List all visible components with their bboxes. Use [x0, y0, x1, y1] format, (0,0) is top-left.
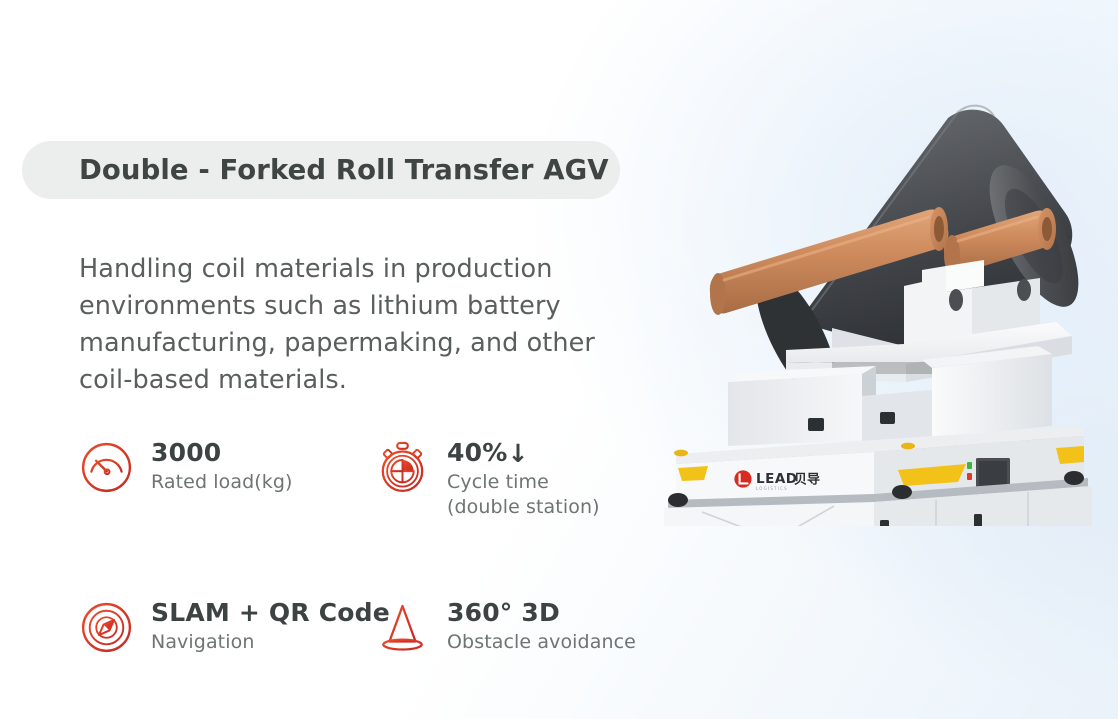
- spec-row: 3000 Rated load(kg): [79, 437, 649, 520]
- traffic-cone-icon: [375, 600, 430, 655]
- spec-value: SLAM + QR Code: [151, 598, 390, 627]
- spec-item-obstacle-avoidance: 360° 3D Obstacle avoidance: [375, 597, 649, 655]
- spec-text: 3000 Rated load(kg): [151, 437, 293, 495]
- spec-item-navigation: SLAM + QR Code Navigation: [79, 597, 375, 655]
- spec-grid: 3000 Rated load(kg): [79, 437, 649, 655]
- left-content-column: Double - Forked Roll Transfer AGV Handli…: [0, 0, 660, 719]
- spec-label-line-1: Cycle time: [447, 470, 600, 495]
- hazard-marker-right: [1056, 446, 1084, 464]
- spec-text: 40%↓ Cycle time (double station): [447, 437, 600, 520]
- compass-icon: [79, 600, 134, 655]
- spec-value: 40%↓: [447, 438, 600, 467]
- spec-row: SLAM + QR Code Navigation: [79, 597, 649, 655]
- spec-label-line-2: (double station): [447, 495, 600, 520]
- spec-label: Obstacle avoidance: [447, 630, 636, 655]
- title-pill: Double - Forked Roll Transfer AGV: [22, 141, 620, 199]
- spec-item-rated-load: 3000 Rated load(kg): [79, 437, 375, 520]
- agv-chassis: LEAD 贝导 LOGISTICS: [656, 426, 1100, 526]
- spec-text: SLAM + QR Code Navigation: [151, 597, 390, 655]
- agv-product-image: LEAD 贝导 LOGISTICS: [636, 96, 1106, 526]
- svg-text:LOGISTICS: LOGISTICS: [756, 486, 788, 491]
- spec-text: 360° 3D Obstacle avoidance: [447, 597, 636, 655]
- beacon-left: [674, 450, 688, 457]
- hazard-marker-left: [678, 466, 708, 481]
- svg-text:贝导: 贝导: [794, 473, 820, 488]
- wheel-housing-left: [668, 493, 688, 507]
- spec-value: 360° 3D: [447, 598, 636, 627]
- arrow-down-icon: ↓: [507, 439, 528, 468]
- spec-item-cycle-time: 40%↓ Cycle time (double station): [375, 437, 649, 520]
- slide-stage: Double - Forked Roll Transfer AGV Handli…: [0, 0, 1118, 719]
- product-description: Handling coil materials in production en…: [79, 251, 641, 399]
- spec-label: Navigation: [151, 630, 390, 655]
- spec-label: Cycle time (double station): [447, 470, 600, 520]
- spec-value-number: 40%: [447, 438, 507, 467]
- spec-value: 3000: [151, 438, 293, 467]
- svg-text:LEAD: LEAD: [756, 471, 797, 487]
- wheel-housing-right: [1064, 471, 1084, 485]
- spec-label: Rated load(kg): [151, 470, 293, 495]
- gauge-icon: [79, 440, 134, 495]
- beacon-right: [901, 443, 915, 450]
- stopwatch-icon: [375, 440, 430, 495]
- page-title: Double - Forked Roll Transfer AGV: [79, 154, 609, 186]
